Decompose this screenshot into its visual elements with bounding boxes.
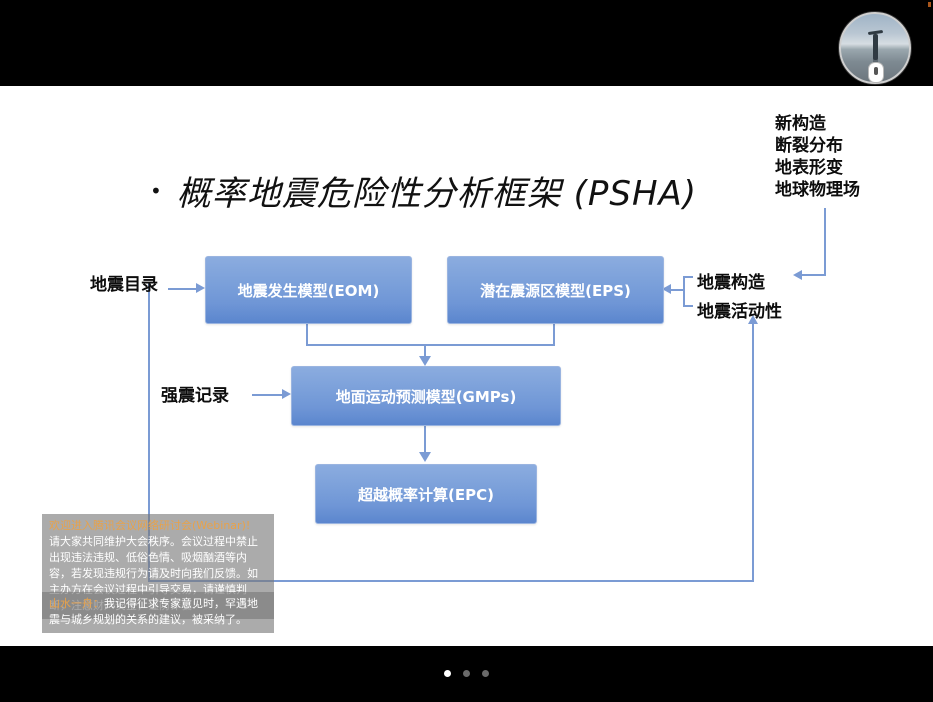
- page-title-text: 概率地震危险性分析框架 (PSHA): [177, 174, 697, 214]
- connector-feedback-right-vertical: [752, 324, 754, 581]
- connector-inputs-left: [802, 274, 826, 276]
- page-indicator-dot[interactable]: [463, 670, 470, 677]
- chat-message-header: 欢迎进入腾讯会议网络研讨会(Webinar)!: [49, 518, 267, 534]
- label-top-right-inputs: 新构造 断裂分布 地表形变 地球物理场: [775, 113, 860, 201]
- connector-strong-to-gmps: [252, 394, 282, 396]
- label-earthquake-catalog: 地震目录: [90, 270, 158, 295]
- microphone-stem: [874, 67, 878, 75]
- connector-sources-bracket: [683, 276, 685, 307]
- label-seismic-tectonics: 地震构造: [697, 268, 765, 293]
- label-strong-motion-records: 强震记录: [161, 381, 229, 406]
- label-seismicity: 地震活动性: [697, 297, 782, 322]
- video-top-bar: [0, 0, 933, 86]
- screen-share-viewer: 高孟潭的屏幕共享 •概率地震危险性分析框架 (PSHA): [0, 0, 933, 702]
- chat-message-sender: 山水一舟：: [49, 597, 104, 610]
- connector-inputs-down: [824, 208, 826, 276]
- page-indicator-dot[interactable]: [444, 670, 451, 677]
- arrowhead-into-gmps: [419, 356, 431, 366]
- flow-box-eps[interactable]: 潜在震源区模型(EPS): [447, 256, 664, 324]
- connector-gmps-to-epc: [424, 424, 426, 452]
- shared-slide-canvas: •概率地震危险性分析框架 (PSHA): [0, 86, 933, 646]
- connector-join-eom-eps: [306, 344, 555, 346]
- connector-sources-to-eps: [671, 289, 685, 291]
- page-title: •概率地震危险性分析框架 (PSHA): [150, 166, 697, 215]
- page-indicator[interactable]: [0, 670, 933, 677]
- page-indicator-dot[interactable]: [482, 670, 489, 677]
- bullet-icon: •: [150, 179, 163, 203]
- connector-eom-down: [306, 322, 308, 346]
- video-bottom-bar: [0, 646, 933, 702]
- flow-box-epc[interactable]: 超越概率计算(EPC): [315, 464, 537, 524]
- connector-eps-down: [553, 322, 555, 346]
- arrowhead-strong-to-gmps: [282, 389, 291, 399]
- connector-catalog-to-eom: [168, 288, 196, 290]
- chat-message-user: 山水一舟：我记得征求专家意见时，罕遇地震与城乡规划的关系的建议，被采纳了。: [42, 592, 274, 633]
- arrowhead-inputs-to-tectonic: [793, 270, 802, 280]
- arrowhead-into-epc: [419, 452, 431, 462]
- microphone-icon[interactable]: [868, 62, 884, 83]
- flow-box-eom[interactable]: 地震发生模型(EOM): [205, 256, 412, 324]
- arrowhead-catalog-to-eom: [196, 283, 205, 293]
- recording-indicator-dot: [928, 2, 931, 7]
- flow-box-gmps[interactable]: 地面运动预测模型(GMPs): [291, 366, 561, 426]
